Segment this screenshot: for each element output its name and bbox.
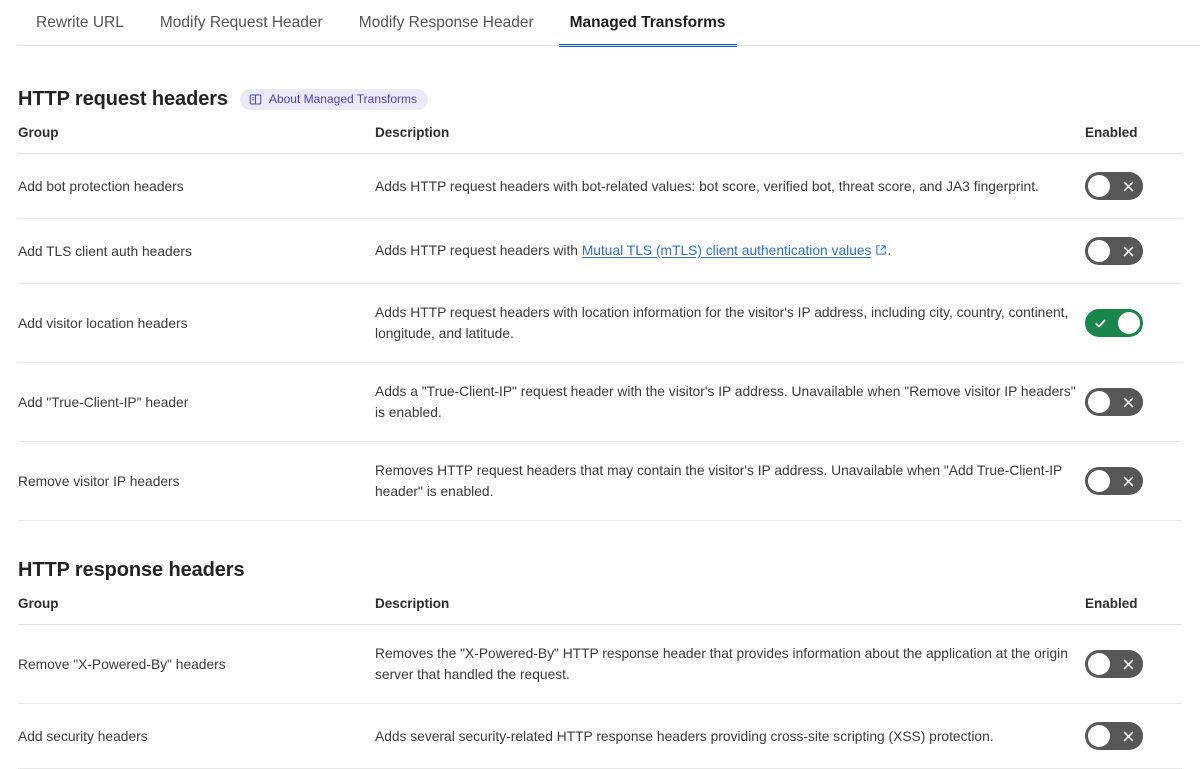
row-enabled-cell xyxy=(1085,363,1182,442)
row-description: Adds HTTP request headers with location … xyxy=(375,284,1085,363)
column-header-group: Group xyxy=(18,596,375,625)
request-section-title: HTTP request headers xyxy=(18,88,228,111)
toggle-knob xyxy=(1088,653,1110,675)
cross-icon xyxy=(1123,650,1134,678)
row-description: Adds a "True-Client-IP" request header w… xyxy=(375,363,1085,442)
response-headers-table: Group Description Enabled Remove "X-Powe… xyxy=(18,596,1182,769)
toggle-knob xyxy=(1118,312,1140,334)
tab-bar-divider xyxy=(18,45,1200,46)
table-row: Add visitor location headers Adds HTTP r… xyxy=(18,284,1182,363)
mtls-documentation-link[interactable]: Mutual TLS (mTLS) client authentication … xyxy=(582,243,872,258)
tab-managed-transforms[interactable]: Managed Transforms xyxy=(552,0,744,46)
table-row: Remove visitor IP headers Removes HTTP r… xyxy=(18,442,1182,521)
row-group-name: Remove "X-Powered-By" headers xyxy=(18,625,375,704)
table-row: Add bot protection headers Adds HTTP req… xyxy=(18,154,1182,219)
toggle-add-visitor-location-headers[interactable] xyxy=(1085,309,1143,337)
column-header-group: Group xyxy=(18,125,375,154)
response-section-header: HTTP response headers xyxy=(18,559,1182,582)
row-group-name: Add bot protection headers xyxy=(18,154,375,219)
description-text-before: Adds HTTP request headers with xyxy=(375,243,582,258)
managed-transforms-page: Rewrite URL Modify Request Header Modify… xyxy=(0,0,1200,742)
table-row: Add security headers Adds several securi… xyxy=(18,704,1182,769)
row-group-name: Add "True-Client-IP" header xyxy=(18,363,375,442)
table-row: Add "True-Client-IP" header Adds a "True… xyxy=(18,363,1182,442)
tab-modify-request-header[interactable]: Modify Request Header xyxy=(142,0,341,46)
tab-modify-response-header[interactable]: Modify Response Header xyxy=(341,0,552,46)
row-description: Removes HTTP request headers that may co… xyxy=(375,442,1085,521)
column-header-enabled: Enabled xyxy=(1085,125,1182,154)
check-icon xyxy=(1094,309,1107,337)
cross-icon xyxy=(1123,172,1134,200)
toggle-knob xyxy=(1088,725,1110,747)
row-description: Adds HTTP request headers with Mutual TL… xyxy=(375,219,1085,284)
toggle-remove-visitor-ip-headers[interactable] xyxy=(1085,467,1143,495)
column-header-description: Description xyxy=(375,596,1085,625)
row-enabled-cell xyxy=(1085,154,1182,219)
toggle-add-bot-protection-headers[interactable] xyxy=(1085,172,1143,200)
about-managed-transforms-badge[interactable]: About Managed Transforms xyxy=(240,89,428,110)
request-section-header: HTTP request headers About Managed Trans… xyxy=(18,88,1182,111)
table-row: Add TLS client auth headers Adds HTTP re… xyxy=(18,219,1182,284)
row-enabled-cell xyxy=(1085,704,1182,769)
row-enabled-cell xyxy=(1085,219,1182,284)
row-description: Adds HTTP request headers with bot-relat… xyxy=(375,154,1085,219)
tab-bar: Rewrite URL Modify Request Header Modify… xyxy=(0,0,1200,46)
row-description: Removes the "X-Powered-By" HTTP response… xyxy=(375,625,1085,704)
request-headers-table: Group Description Enabled Add bot protec… xyxy=(18,125,1182,521)
toggle-add-true-client-ip-header[interactable] xyxy=(1085,388,1143,416)
cross-icon xyxy=(1123,388,1134,416)
external-link-icon[interactable] xyxy=(875,241,887,262)
response-section-title: HTTP response headers xyxy=(18,559,245,582)
cross-icon xyxy=(1123,237,1134,265)
table-header-row: Group Description Enabled xyxy=(18,125,1182,154)
http-response-headers-section: HTTP response headers Group Description … xyxy=(0,559,1200,769)
toggle-add-tls-client-auth-headers[interactable] xyxy=(1085,237,1143,265)
book-icon xyxy=(249,93,262,106)
cross-icon xyxy=(1123,722,1134,750)
http-request-headers-section: HTTP request headers About Managed Trans… xyxy=(0,88,1200,521)
row-enabled-cell xyxy=(1085,442,1182,521)
cross-icon xyxy=(1123,467,1134,495)
row-description: Adds several security-related HTTP respo… xyxy=(375,704,1085,769)
tab-rewrite-url[interactable]: Rewrite URL xyxy=(18,0,142,46)
row-group-name: Add visitor location headers xyxy=(18,284,375,363)
table-header-row: Group Description Enabled xyxy=(18,596,1182,625)
column-header-enabled: Enabled xyxy=(1085,596,1182,625)
row-group-name: Remove visitor IP headers xyxy=(18,442,375,521)
about-badge-label: About Managed Transforms xyxy=(269,92,417,106)
row-group-name: Add security headers xyxy=(18,704,375,769)
toggle-remove-x-powered-by-headers[interactable] xyxy=(1085,650,1143,678)
toggle-add-security-headers[interactable] xyxy=(1085,722,1143,750)
table-row: Remove "X-Powered-By" headers Removes th… xyxy=(18,625,1182,704)
toggle-knob xyxy=(1088,240,1110,262)
toggle-knob xyxy=(1088,470,1110,492)
description-text-after: . xyxy=(887,243,891,258)
toggle-knob xyxy=(1088,175,1110,197)
column-header-description: Description xyxy=(375,125,1085,154)
row-enabled-cell xyxy=(1085,625,1182,704)
row-group-name: Add TLS client auth headers xyxy=(18,219,375,284)
toggle-knob xyxy=(1088,391,1110,413)
row-enabled-cell xyxy=(1085,284,1182,363)
